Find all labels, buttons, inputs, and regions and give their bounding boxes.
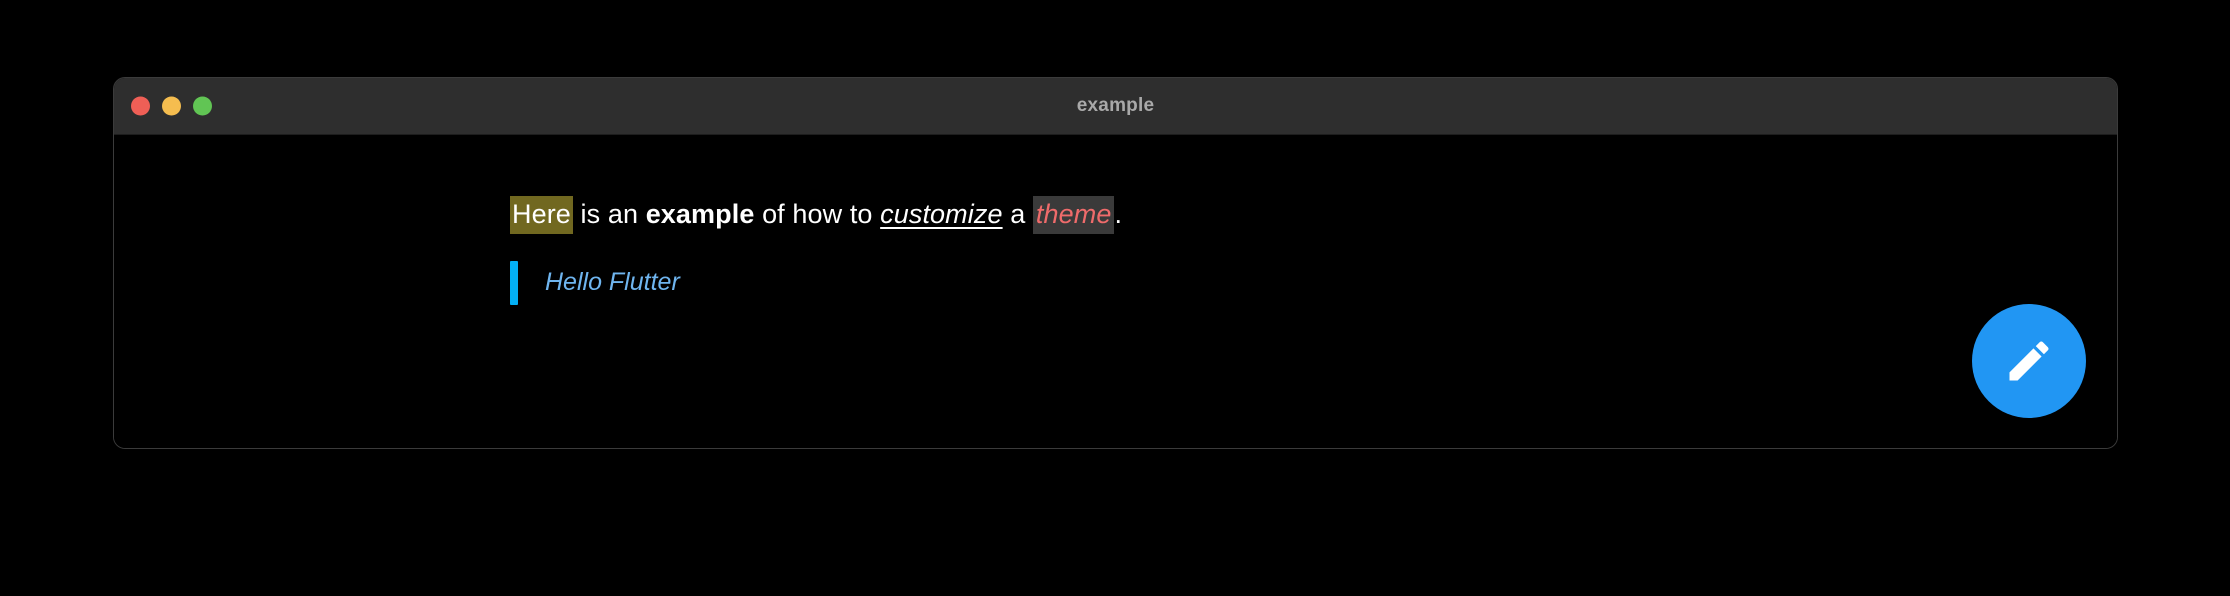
text-segment-highlight: Here — [510, 196, 573, 234]
text-segment-bold: example — [646, 199, 755, 229]
close-window-button[interactable] — [131, 97, 150, 116]
markdown-body: Here is an example of how to customize a… — [510, 197, 1977, 305]
maximize-window-button[interactable] — [193, 97, 212, 116]
window-titlebar[interactable]: example — [114, 78, 2117, 135]
text-segment-code: theme — [1033, 196, 1115, 234]
text-segment-period: . — [1114, 199, 1122, 229]
minimize-window-button[interactable] — [162, 97, 181, 116]
pencil-icon — [2003, 335, 2055, 387]
traffic-light-group — [131, 97, 212, 116]
text-segment-plain-3: a — [1003, 199, 1033, 229]
blockquote-text: Hello Flutter — [545, 261, 680, 305]
blockquote-bar — [510, 261, 518, 305]
text-segment-link[interactable]: customize — [880, 199, 1002, 229]
text-segment-plain-1: is an — [573, 199, 646, 229]
rich-text-paragraph: Here is an example of how to customize a… — [510, 197, 1977, 233]
window-title: example — [114, 95, 2117, 117]
blockquote: Hello Flutter — [510, 261, 1977, 305]
window-content: Here is an example of how to customize a… — [114, 135, 2117, 448]
text-segment-plain-2: of how to — [754, 199, 880, 229]
app-window: example Here is an example of how to cus… — [113, 77, 2118, 449]
edit-fab-button[interactable] — [1972, 304, 2086, 418]
